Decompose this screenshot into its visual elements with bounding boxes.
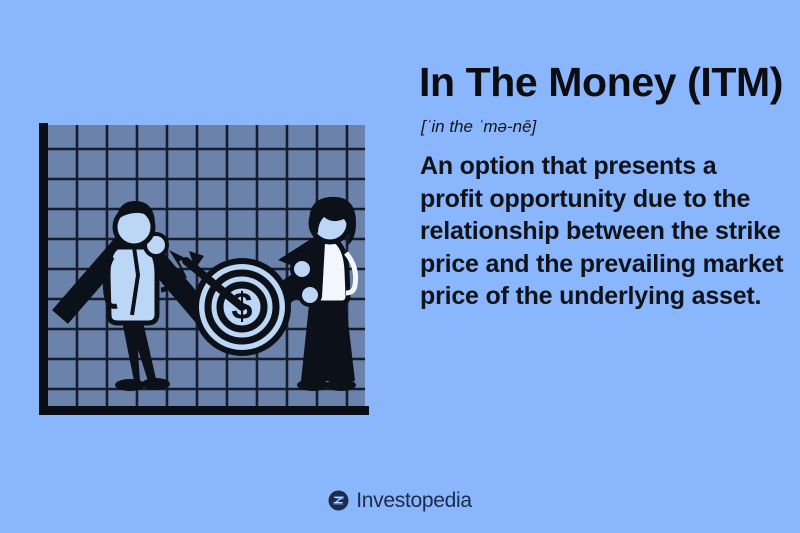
term-definition: An option that presents a profit opportu… <box>420 150 785 313</box>
brand-name: Investopedia <box>356 490 472 511</box>
term-title: In The Money (ITM) <box>419 58 785 106</box>
definition-block: In The Money (ITM) [ˈin the ˈmə-nē] An o… <box>419 58 785 313</box>
term-pronunciation: [ˈin the ˈmə-nē] <box>421 116 785 138</box>
investopedia-logo-icon <box>328 490 349 511</box>
y-axis <box>39 123 48 415</box>
infographic-card: $ <box>0 0 800 533</box>
brand-footer: Investopedia <box>0 490 800 511</box>
x-axis <box>39 406 369 415</box>
illustration-chart-people: $ <box>38 123 372 417</box>
